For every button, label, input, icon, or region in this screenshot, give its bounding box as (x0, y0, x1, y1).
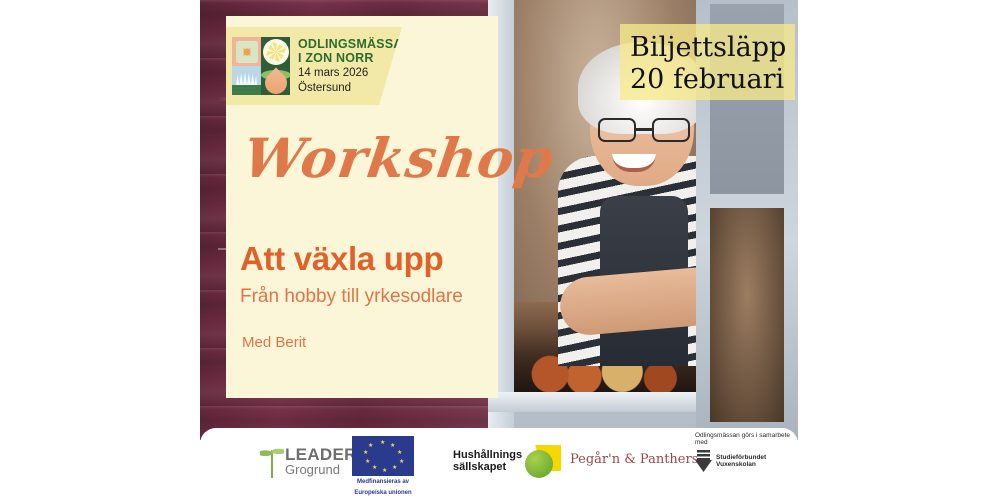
studieforbundet-block: Odlingsmässan görs i samarbete med Studi… (695, 432, 798, 472)
leader-grogrund-logo: LEADER Grogrund (262, 444, 357, 478)
ticket-line2: 20 februari (630, 64, 795, 96)
subline: Från hobby till yrkesodlare (240, 286, 463, 308)
event-date: 14 mars 2026 (298, 67, 403, 79)
heart-leaf-icon (261, 66, 290, 95)
eu-caption-line1: Medfinansieras av (352, 479, 414, 487)
lower-glass (710, 208, 784, 422)
studieforbundet-vuxenskolan-icon (695, 450, 712, 472)
hushallnings-line2: sällskapet (453, 462, 522, 474)
hushallningssallskapet-circle-icon (525, 444, 561, 480)
sprout-icon (262, 444, 282, 478)
hushallnings-text: Hushållnings sällskapet (453, 450, 522, 473)
eu-caption-line2: Europeiska unionen (352, 490, 414, 498)
hushallningssallskapet-logo: Hushållnings sällskapet (453, 444, 561, 480)
studieforbundet-line2: Vuxenskolan (716, 461, 766, 468)
eu-flag-icon: ★ ★ ★ ★ ★ ★ ★ ★ ★ ★ (352, 436, 414, 476)
event-title-line1: ODLINGSMÄSSA (298, 38, 403, 52)
pegarn-panthers-logo: Pegår'n & Panthers (570, 452, 698, 467)
flower-icon (232, 37, 261, 66)
mountain-water-icon (232, 66, 261, 95)
leader-text: LEADER Grogrund (285, 446, 357, 476)
glasses-icon (598, 118, 690, 142)
eu-funding-logo: ★ ★ ★ ★ ★ ★ ★ ★ ★ ★ Medfinansieras av Eu… (352, 436, 414, 497)
workshop-script-word: Workshop (240, 126, 559, 190)
byline: Med Berit (242, 334, 306, 351)
headline: Att växla upp (240, 240, 443, 278)
sun-icon (261, 37, 290, 66)
event-ribbon: ODLINGSMÄSSA I ZON NORR 14 mars 2026 Öst… (226, 27, 402, 105)
ticket-release-badge: Biljettsläpp 20 februari (620, 24, 795, 100)
event-title-line2: I ZON NORR (298, 52, 403, 66)
studieforbundet-text: Studieförbundet Vuxenskolan (716, 454, 766, 469)
poster-canvas: ODLINGSMÄSSA I ZON NORR 14 mars 2026 Öst… (0, 0, 1000, 500)
leader-name: LEADER (285, 446, 357, 463)
ticket-line1: Biljettsläpp (630, 32, 795, 64)
leader-sub: Grogrund (285, 463, 357, 476)
sponsor-footer: LEADER Grogrund ★ ★ ★ ★ ★ ★ ★ ★ ★ ★ Medf… (200, 428, 798, 500)
studieforbundet-logo: Studieförbundet Vuxenskolan (695, 450, 798, 472)
studieforbundet-line1: Studieförbundet (716, 454, 766, 461)
odlingsmassa-four-square-logo (232, 37, 290, 95)
collaboration-caption: Odlingsmässan görs i samarbete med (695, 432, 798, 446)
